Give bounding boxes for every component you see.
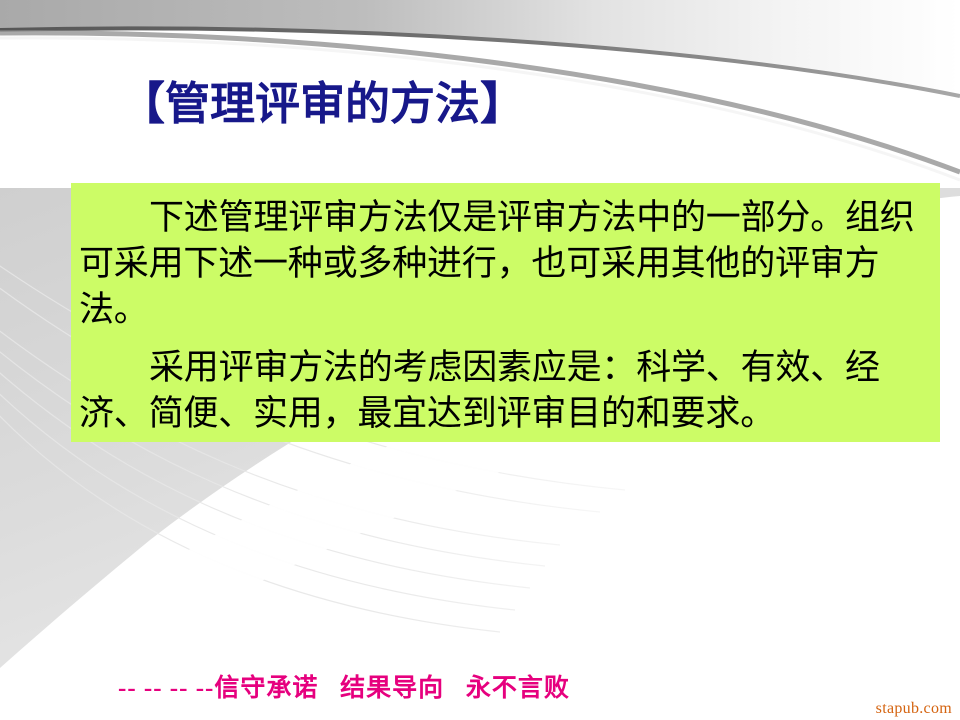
slide-canvas: 【管理评审的方法】 下述管理评审方法仅是评审方法中的一部分。组织可采用下述一种或… [0, 0, 960, 720]
content-callout-box: 下述管理评审方法仅是评审方法中的一部分。组织可采用下述一种或多种进行，也可采用其… [71, 183, 940, 442]
watermark-label: stapub.com [876, 700, 952, 718]
content-paragraph-2: 采用评审方法的考虑因素应是：科学、有效、经济、简便、实用，最宜达到评审目的和要求… [79, 345, 932, 437]
footer-slogan: -- -- -- --信守承诺 结果导向 永不言败 [118, 668, 570, 704]
page-title: 【管理评审的方法】 [120, 76, 525, 132]
content-paragraph-1: 下述管理评审方法仅是评审方法中的一部分。组织可采用下述一种或多种进行，也可采用其… [79, 195, 932, 333]
